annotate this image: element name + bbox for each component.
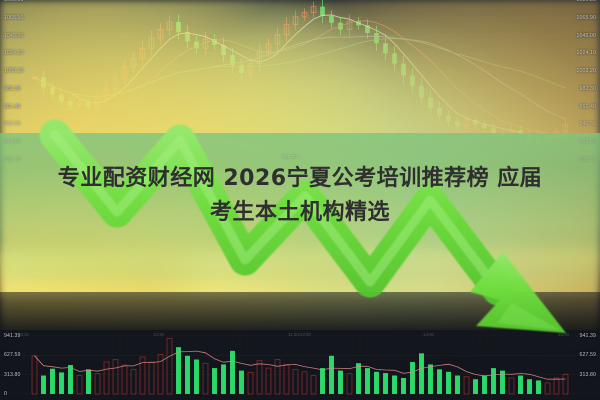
price-y-axis-label-left: 982.30 xyxy=(4,86,20,92)
price-y-axis-label-right: 1024.10 xyxy=(577,50,596,56)
page-title: 专业配资财经网 2026宁夏公考培训推荐榜 应届 考生本土机构精选 xyxy=(0,162,600,230)
x-axis-tick-label: 10:30 xyxy=(153,332,164,337)
price-y-axis-label-left: 1003.20 xyxy=(4,68,23,74)
page-title-line-2: 考生本土机构精选 xyxy=(0,196,600,230)
volume-y-axis-label-left: 0 xyxy=(4,391,7,397)
price-low-point-annotation: 912.20→ xyxy=(282,155,301,160)
price-y-axis-label-right: 940.50 xyxy=(580,121,596,127)
screenshot-root: 1086.801086.801065.901065.901045.001045.… xyxy=(0,0,600,400)
price-y-axis-label-right: 1045.00 xyxy=(577,33,596,39)
price-y-axis-label-right: 919.60 xyxy=(580,139,596,145)
price-y-axis-label-left: 961.40 xyxy=(4,104,20,110)
price-y-axis-label-right: 1003.20 xyxy=(577,68,596,74)
x-axis-tick-label: 14:00 xyxy=(423,332,434,337)
price-y-axis-label-left: 1086.80 xyxy=(4,0,23,3)
price-y-axis-label-left: 1065.90 xyxy=(4,15,23,21)
price-y-axis-label-left: 1024.10 xyxy=(4,50,23,56)
volume-y-axis-label-right: 941.39 xyxy=(580,333,596,339)
price-y-axis-label-left: 1045.00 xyxy=(4,33,23,39)
price-y-axis-label-left: 940.50 xyxy=(4,121,20,127)
price-y-axis-label-left: 919.60 xyxy=(4,139,20,145)
x-axis-tick-label: 11:30/13:00 xyxy=(288,332,311,337)
x-axis-tick-label: 15:00 xyxy=(558,332,569,337)
price-y-axis-label-right: 961.40 xyxy=(580,104,596,110)
volume-y-axis-label-right: 313.80 xyxy=(580,372,596,378)
price-y-axis-label-right: 1086.80 xyxy=(577,0,596,3)
x-axis-tick-label: 09:30 xyxy=(18,332,29,337)
price-y-axis-label-right: 1065.90 xyxy=(577,15,596,21)
price-y-axis-label-right: 982.30 xyxy=(580,86,596,92)
page-title-line-1: 专业配资财经网 2026宁夏公考培训推荐榜 应届 xyxy=(58,166,543,191)
volume-y-axis-label-right: 627.59 xyxy=(580,352,596,358)
volume-y-axis-label-left: 627.59 xyxy=(4,352,20,358)
volume-y-axis-label-left: 313.80 xyxy=(4,372,20,378)
